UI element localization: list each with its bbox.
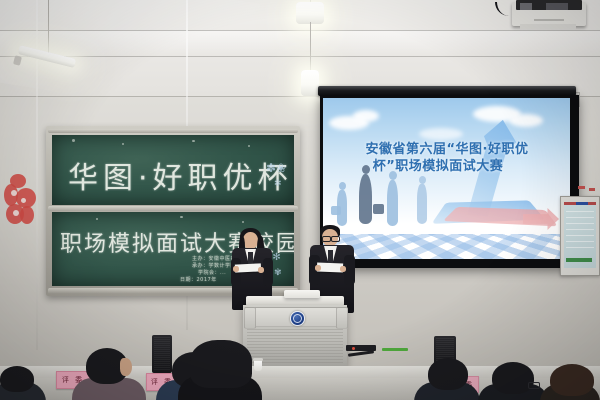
- podium-side-right: [336, 307, 348, 329]
- slide-silhouette-head: [339, 182, 346, 190]
- chalk-dust: [248, 145, 250, 147]
- chalk-dust: [96, 218, 98, 220]
- host-female-tie: [248, 252, 253, 264]
- projection-screen-frame: 安徽省第六届“华图·好职优 杯”职场模拟面试大赛: [320, 95, 579, 268]
- audience-glasses: [528, 382, 540, 389]
- speaker-mesh: [154, 337, 170, 371]
- notice-board-footer-bar: [566, 258, 592, 262]
- slide-cloud: [509, 114, 543, 127]
- host-female-head: [243, 232, 258, 249]
- paper-cup: [254, 360, 262, 371]
- ceiling-seam-upper: [0, 30, 600, 31]
- projector-port-panel: [546, 3, 568, 10]
- audience-member-face: [120, 358, 132, 376]
- notice-row: [566, 229, 594, 230]
- ceiling-seam-lower: [0, 56, 600, 57]
- notice-row: [566, 241, 594, 242]
- podium-paper-tray: [284, 290, 320, 298]
- slide-silhouette: [359, 174, 372, 224]
- audience-member-head-long-hair: [190, 340, 252, 388]
- host-female-hand: [233, 266, 239, 272]
- projector-lens-strip: [534, 19, 564, 21]
- notice-board-inner: [564, 202, 596, 268]
- papercut-cutout: [13, 210, 19, 216]
- slide-briefcase: [373, 204, 384, 214]
- host-female-hand: [258, 267, 264, 273]
- slide-checker-pattern: [323, 234, 570, 259]
- host-male-hand: [315, 265, 321, 271]
- ceiling-beam-band: [0, 30, 600, 56]
- projector-vent: [520, 3, 532, 10]
- slide-silhouette: [417, 184, 427, 224]
- host-male-glasses: [331, 236, 340, 242]
- podium-front-panel: [255, 307, 337, 327]
- blackboard-mid-rail: [48, 206, 298, 211]
- ceiling-projector: [512, 2, 586, 26]
- notice-sticker: [578, 186, 585, 189]
- chalk-dust: [180, 216, 183, 218]
- slide-title-line2: 杯”职场模拟面试大赛: [333, 159, 543, 175]
- notice-row: [566, 211, 594, 212]
- blackboard-upper-text: 华图·好职优杯: [68, 153, 293, 197]
- audience-member-head: [0, 366, 34, 392]
- papercut-cutout: [21, 198, 26, 203]
- chalk-dust: [242, 221, 244, 223]
- host-male-hand: [340, 266, 346, 272]
- blackboard-panel-upper: 华图·好职优杯 ✽❀ ✻: [52, 135, 294, 205]
- chalk-dust: [192, 140, 195, 142]
- notice-board-title-bar: [576, 202, 588, 205]
- chalk-dust: [122, 143, 124, 145]
- chinese-papercut: [2, 172, 38, 234]
- chalk-dust: [72, 139, 75, 142]
- paper-cup-lid: [253, 358, 263, 361]
- slide-silhouette: [387, 180, 398, 226]
- papercut-cutout: [11, 190, 17, 196]
- notice-row: [566, 217, 594, 218]
- chalk-flower-decoration: ✽❀: [266, 161, 286, 175]
- classroom-scene: 安徽省第六届“华图·好职优 杯”职场模拟面试大赛 华图·好职优杯 ✽❀ ✻ 职场…: [0, 0, 600, 400]
- wall-notice-board: [560, 196, 600, 276]
- notice-row: [566, 235, 594, 236]
- network-cable: [382, 348, 408, 351]
- ceiling-tube-light-mid: [301, 70, 319, 96]
- papercut-part: [20, 206, 34, 224]
- blackboard-note-4: 日期：2017年: [180, 277, 217, 285]
- blackboard-top-rail: [48, 129, 298, 133]
- slide-briefcase: [331, 206, 341, 215]
- university-emblem: [290, 311, 305, 326]
- notice-sticker: [589, 188, 595, 191]
- slide-silhouette-head: [419, 176, 426, 184]
- audience-member-head: [492, 362, 534, 394]
- light-rod-left: [48, 0, 49, 54]
- notice-row: [566, 223, 594, 224]
- av-control-box: [346, 345, 376, 351]
- emblem-inner-ring: [293, 314, 302, 323]
- slide-cloud: [353, 110, 379, 122]
- floor-speaker-left: [152, 335, 172, 373]
- notice-row: [566, 247, 594, 248]
- audience-member-head: [550, 364, 594, 396]
- host-female-arm: [263, 258, 273, 286]
- host-male-tie: [328, 250, 333, 263]
- ceiling-tube-light-top: [296, 2, 324, 24]
- chalk-flower-decoration: ✻: [274, 179, 282, 189]
- projector-mount: [520, 24, 576, 29]
- projection-screen-surface: 安徽省第六届“华图·好职优 杯”职场模拟面试大赛: [323, 98, 570, 259]
- slide-cloud: [419, 128, 463, 140]
- av-status-led: [352, 347, 355, 350]
- slide-title-line1: 安徽省第六届“华图·好职优: [333, 142, 561, 158]
- host-male-glasses: [322, 236, 331, 242]
- light-rod-mid: [310, 22, 311, 74]
- audience-member-head: [428, 358, 468, 390]
- podium-side-left: [244, 307, 256, 329]
